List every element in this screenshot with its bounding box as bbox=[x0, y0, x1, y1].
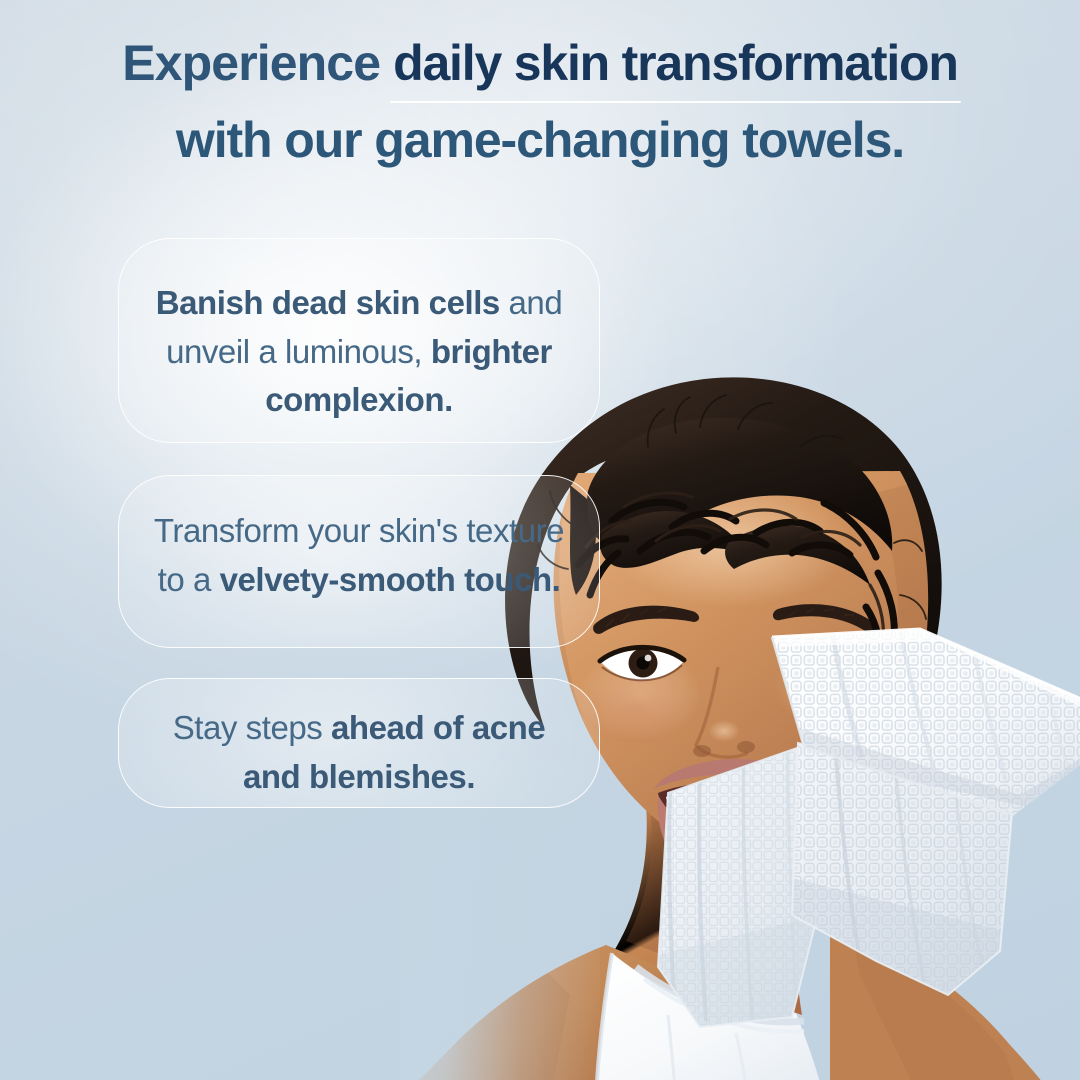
promo-infographic: Experience daily skin transformation wit… bbox=[0, 0, 1080, 1080]
feature-card-acne: Stay steps ahead of acne and blemishes. bbox=[118, 678, 600, 808]
feature-card-text: Stay steps ahead of acne and blemishes. bbox=[119, 704, 599, 801]
feature-card-texture: Transform your skin's texture to a velve… bbox=[118, 475, 600, 648]
feature-card-list: Banish dead skin cells and unveil a lumi… bbox=[118, 238, 600, 808]
feature-card-exfoliation: Banish dead skin cells and unveil a lumi… bbox=[118, 238, 600, 443]
headline-segment-experience: Experience bbox=[122, 35, 393, 91]
text-segment: Banish dead skin cells bbox=[156, 284, 500, 321]
page-title: Experience daily skin transformation wit… bbox=[0, 36, 1080, 168]
feature-card-text: Banish dead skin cells and unveil a lumi… bbox=[119, 279, 599, 425]
text-segment: Stay steps bbox=[173, 709, 331, 746]
headline-line-1: Experience daily skin transformation bbox=[0, 36, 1080, 91]
headline-segment-emphasis: daily skin transformation bbox=[393, 35, 958, 91]
headline-line-2: with our game-changing towels. bbox=[0, 113, 1080, 168]
text-segment: velvety-smooth touch. bbox=[220, 561, 561, 598]
feature-card-text: Transform your skin's texture to a velve… bbox=[119, 507, 599, 604]
